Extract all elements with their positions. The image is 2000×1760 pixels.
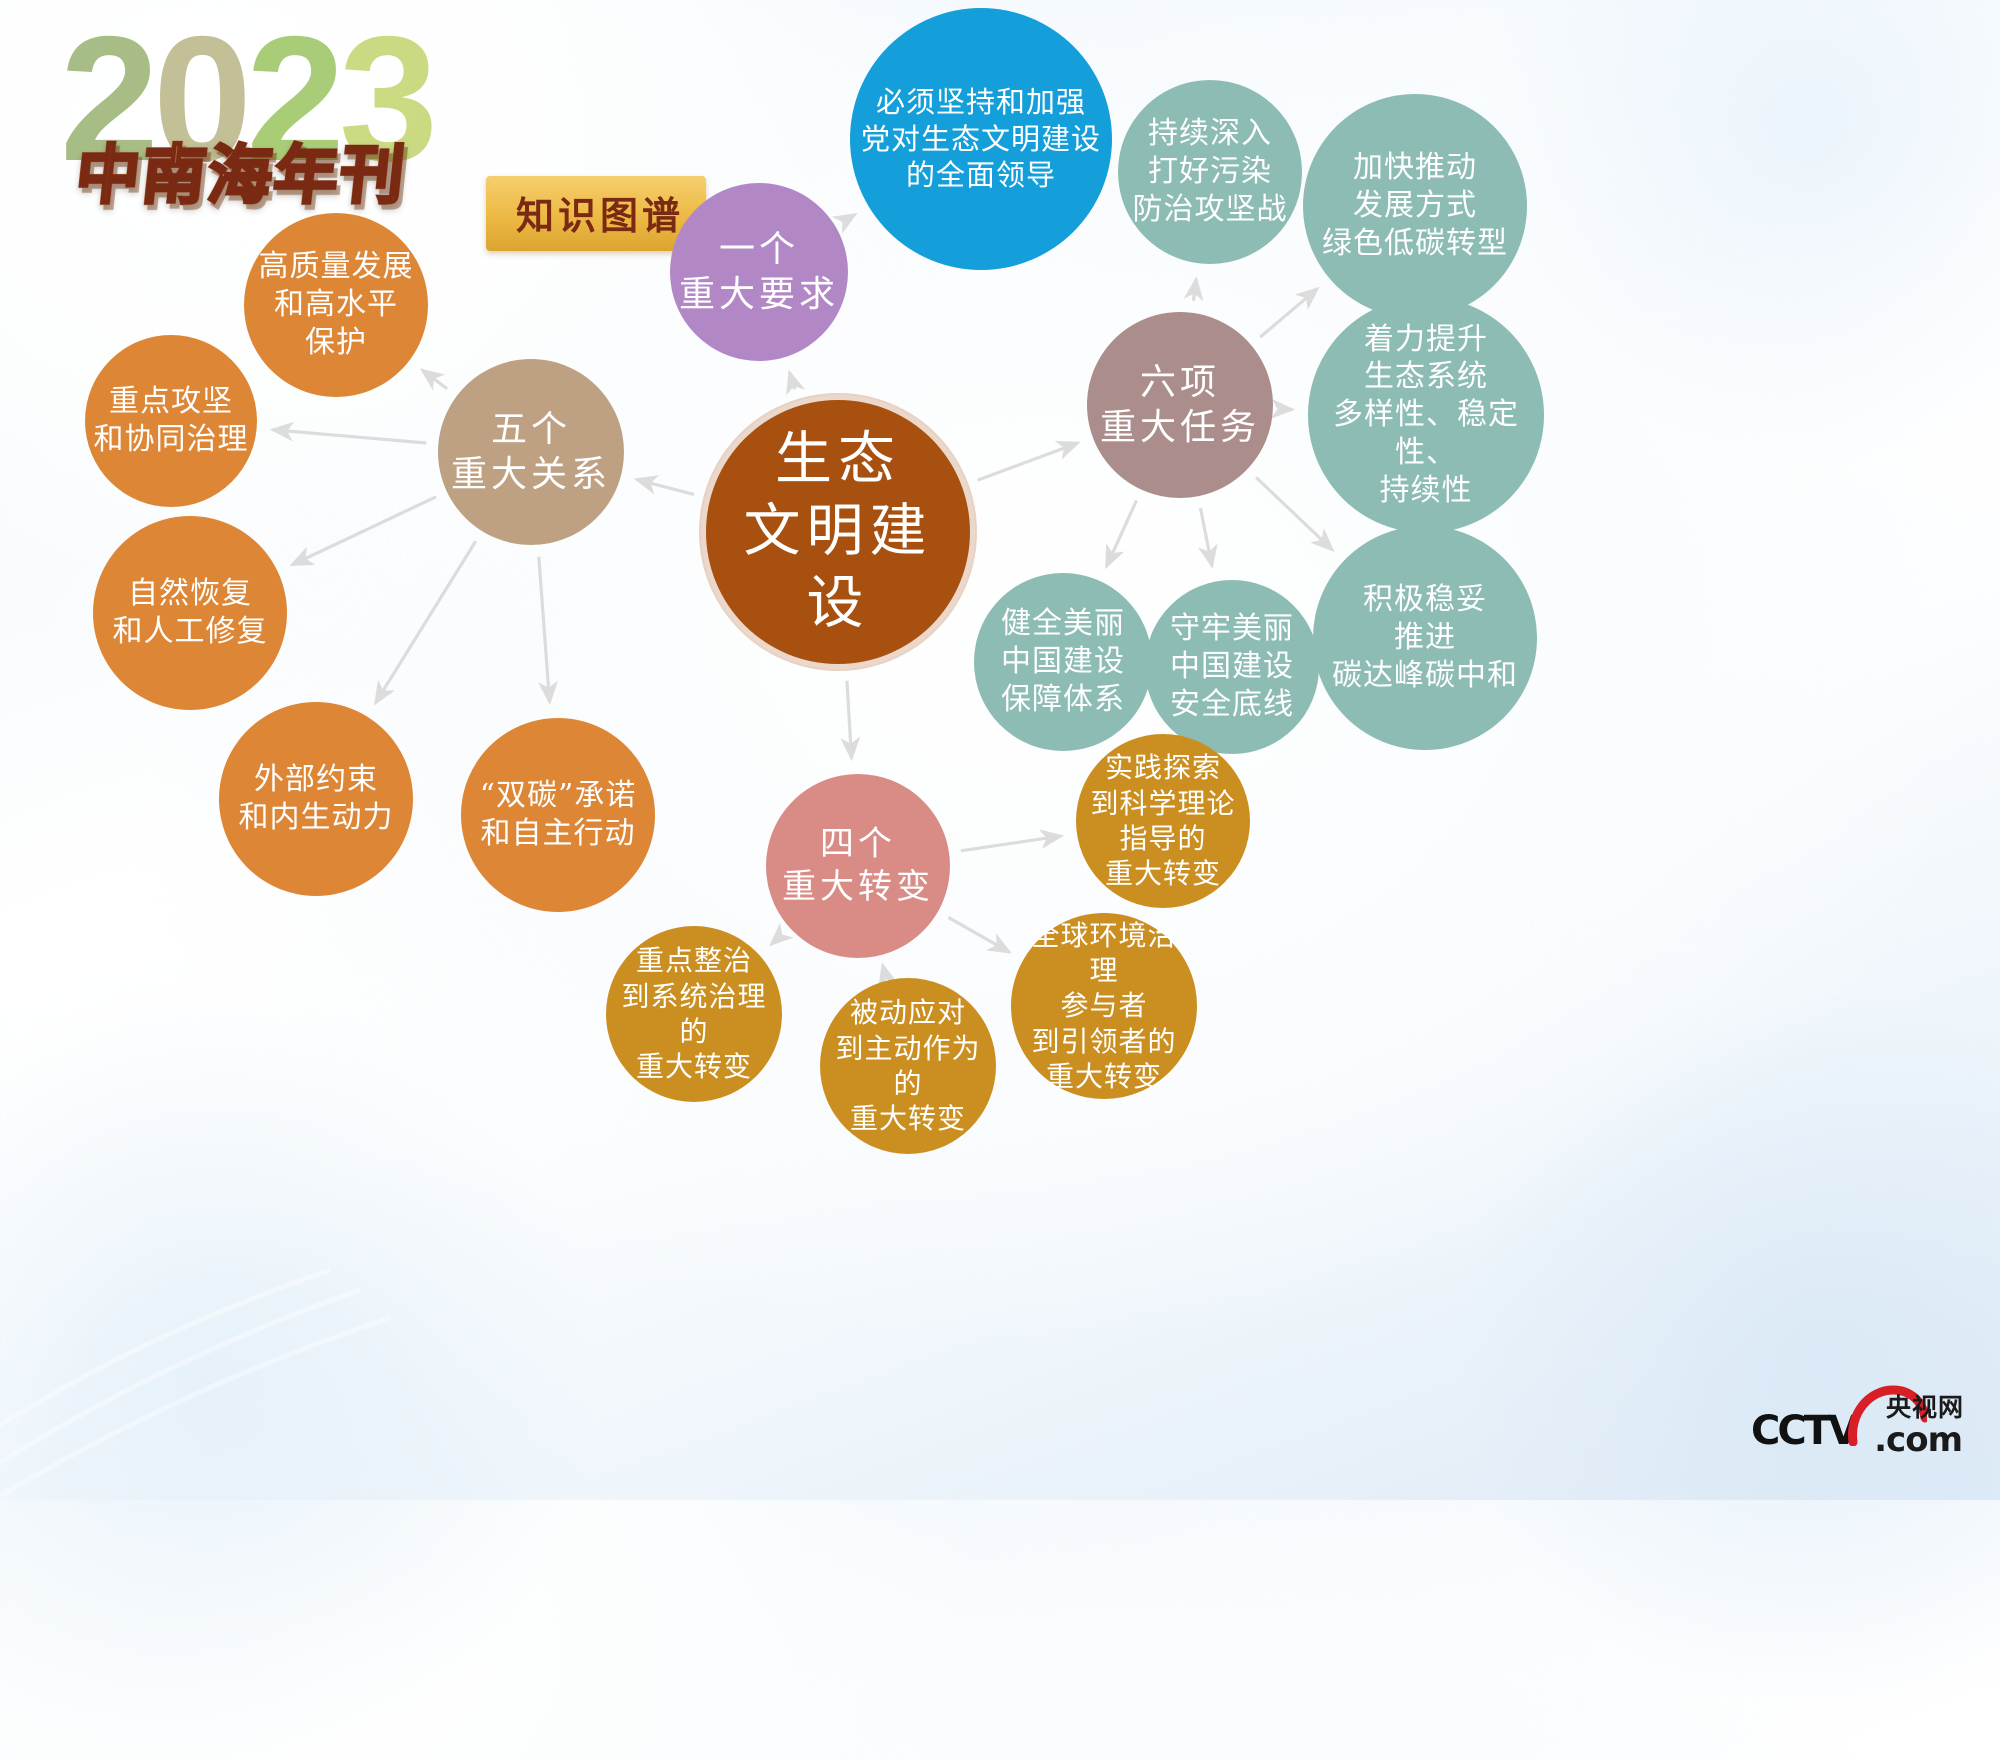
graph-node-hub-changes[interactable]: 四个 重大转变	[766, 774, 950, 958]
graph-node-leaf-lowcarbon[interactable]: 加快推动 发展方式 绿色低碳转型	[1303, 94, 1527, 318]
graph-edge	[961, 836, 1061, 851]
graph-node-label: 重点攻坚 和协同治理	[86, 383, 257, 459]
graph-edge	[847, 681, 852, 758]
graph-edge	[978, 443, 1078, 480]
cctv-domain: .com	[1874, 1420, 1962, 1460]
graph-node-leaf-active[interactable]: 被动应对 到主动作为的 重大转变	[820, 978, 996, 1154]
graph-edge	[790, 372, 795, 389]
graph-node-leaf-keypoint[interactable]: 重点攻坚 和协同治理	[85, 335, 257, 507]
graph-edge	[1107, 501, 1137, 567]
graph-node-leaf-pollution[interactable]: 持续深入 打好污染 防治攻坚战	[1118, 80, 1302, 264]
graph-node-leaf-systemic[interactable]: 重点整治 到系统治理的 重大转变	[606, 926, 782, 1102]
graph-node-leaf-ecosystem[interactable]: 着力提升 生态系统 多样性、稳定性、 持续性	[1308, 297, 1544, 533]
graph-node-leaf-restore[interactable]: 自然恢复 和人工修复	[93, 516, 287, 710]
infographic-canvas: 2023 中南海年刊 知识图谱 生态 文明建设五个 重大关系一个 重大要求六项 …	[0, 0, 2000, 1500]
graph-node-leaf-global[interactable]: 全球环境治理 参与者 到引领者的 重大转变	[1011, 913, 1197, 1099]
graph-node-label: 外部约束 和内生动力	[231, 761, 402, 837]
graph-edge	[539, 557, 550, 703]
cctv-chinese-name: 央视网	[1886, 1388, 1964, 1424]
graph-node-label: 六项 重大任务	[1092, 360, 1268, 451]
graph-node-leaf-dualcarbon[interactable]: “双碳”承诺 和自主行动	[461, 718, 655, 912]
graph-edge	[636, 479, 693, 494]
graph-node-label: 积极稳妥 推进 碳达峰碳中和	[1324, 581, 1526, 694]
graph-edge	[948, 917, 1009, 952]
graph-node-label: 一个 重大要求	[671, 227, 847, 318]
graph-node-label: 四个 重大转变	[774, 823, 942, 909]
graph-node-hub-requirement[interactable]: 一个 重大要求	[670, 183, 848, 361]
graph-edge	[273, 430, 427, 443]
graph-node-label: 重点整治 到系统治理的 重大转变	[606, 943, 782, 1084]
graph-node-leaf-guarantee[interactable]: 健全美丽 中国建设 保障体系	[974, 573, 1152, 751]
graph-node-hub-relations[interactable]: 五个 重大关系	[438, 359, 624, 545]
graph-node-center[interactable]: 生态 文明建设	[701, 395, 975, 669]
graph-edge	[846, 215, 855, 221]
graph-node-label: “双碳”承诺 和自主行动	[472, 777, 645, 853]
graph-node-leaf-carbonpeak[interactable]: 积极稳妥 推进 碳达峰碳中和	[1313, 526, 1537, 750]
graph-node-label: 加快推动 发展方式 绿色低碳转型	[1314, 149, 1516, 262]
graph-node-leaf-safety[interactable]: 守牢美丽 中国建设 安全底线	[1145, 580, 1319, 754]
cctv-wordmark: CCTV	[1751, 1408, 1856, 1454]
cctv-logo: CCTV 央视网 .com	[1751, 1384, 1966, 1458]
graph-edge	[292, 497, 436, 565]
graph-node-leaf-quality[interactable]: 高质量发展 和高水平 保护	[244, 213, 428, 397]
graph-node-label: 高质量发展 和高水平 保护	[251, 248, 422, 361]
graph-edge	[376, 541, 476, 703]
graph-node-leaf-theory[interactable]: 实践探索 到科学理论 指导的 重大转变	[1076, 734, 1250, 908]
graph-edge	[422, 370, 447, 389]
graph-node-label: 自然恢复 和人工修复	[105, 575, 276, 651]
graph-node-label: 守牢美丽 中国建设 安全底线	[1162, 610, 1302, 723]
graph-node-hub-tasks[interactable]: 六项 重大任务	[1087, 312, 1273, 498]
graph-edge	[1200, 508, 1212, 566]
graph-node-label: 生态 文明建设	[706, 424, 970, 639]
graph-node-label: 健全美丽 中国建设 保障体系	[993, 605, 1133, 718]
graph-node-leaf-leadership[interactable]: 必须坚持和加强 党对生态文明建设 的全面领导	[850, 8, 1112, 270]
graph-node-label: 实践探索 到科学理论 指导的 重大转变	[1082, 750, 1243, 891]
graph-node-leaf-external[interactable]: 外部约束 和内生动力	[219, 702, 413, 896]
graph-node-label: 五个 重大关系	[443, 407, 619, 498]
graph-node-label: 必须坚持和加强 党对生态文明建设 的全面领导	[853, 84, 1109, 194]
graph-node-label: 持续深入 打好污染 防治攻坚战	[1125, 115, 1296, 228]
graph-node-label: 被动应对 到主动作为的 重大转变	[820, 995, 996, 1136]
graph-edge	[1193, 279, 1196, 301]
graph-node-label: 着力提升 生态系统 多样性、稳定性、 持续性	[1308, 321, 1544, 510]
graph-node-label: 全球环境治理 参与者 到引领者的 重大转变	[1011, 918, 1197, 1094]
